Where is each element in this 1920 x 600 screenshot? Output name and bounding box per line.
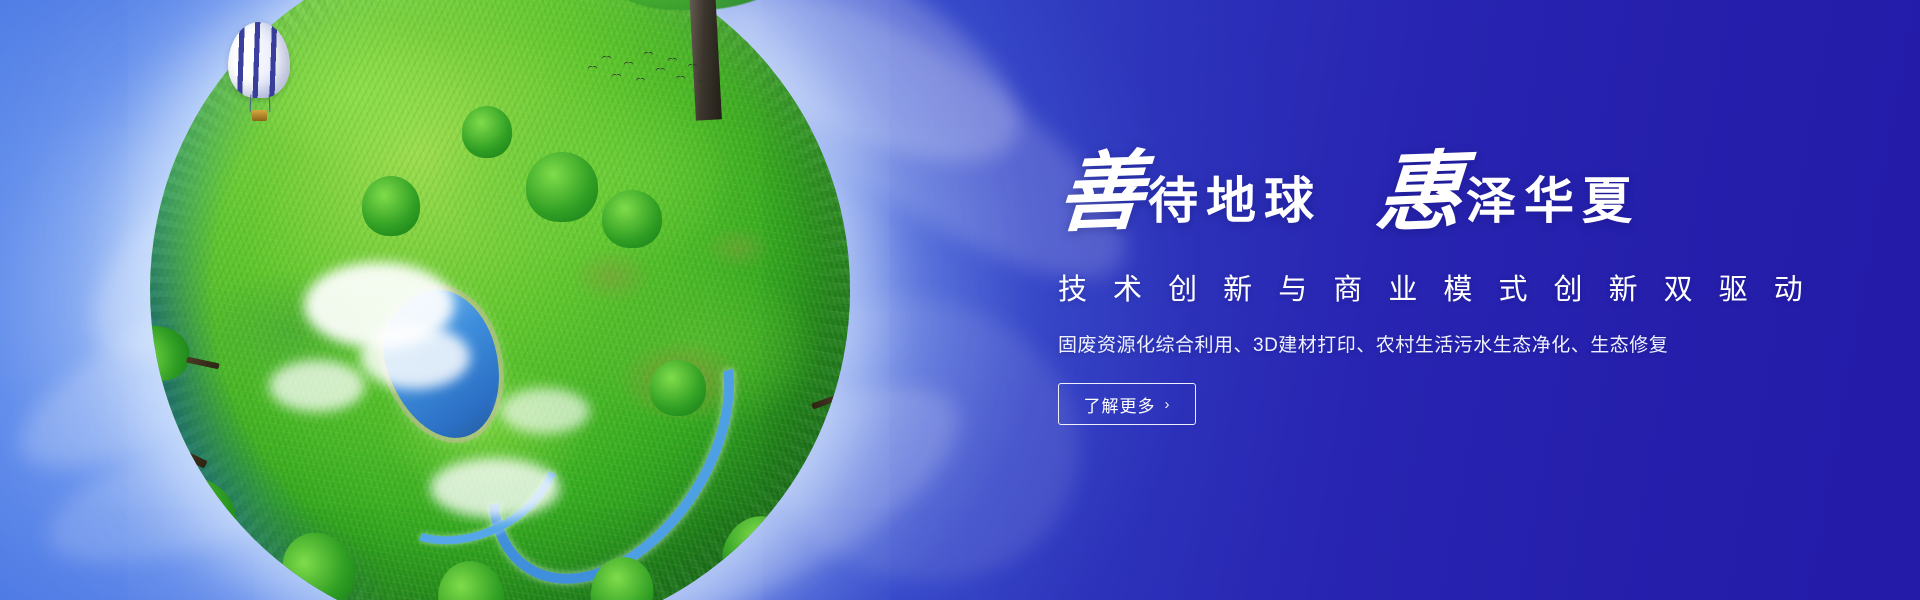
chevron-right-icon: ›	[1165, 397, 1171, 412]
hero-description: 固废资源化综合利用、3D建材打印、农村生活污水生态净化、生态修复	[1058, 330, 1818, 357]
headline-part2-big: 惠	[1373, 149, 1463, 238]
hero-banner: 善 待地球 惠 泽华夏 技 术 创 新 与 商 业 模 式 创 新 双 驱 动 …	[0, 0, 1920, 600]
hero-subtitle: 技 术 创 新 与 商 业 模 式 创 新 双 驱 动	[1058, 266, 1818, 308]
hero-copy: 善 待地球 惠 泽华夏 技 术 创 新 与 商 业 模 式 创 新 双 驱 动 …	[1058, 150, 1818, 425]
hot-air-balloon-icon	[228, 22, 290, 126]
bird-flock-icon	[586, 48, 716, 94]
headline-part1-big: 善	[1055, 149, 1145, 238]
bush-icon	[526, 152, 598, 222]
page-title: 善 待地球 惠 泽华夏	[1058, 150, 1818, 236]
learn-more-label: 了解更多	[1084, 392, 1156, 417]
bush-icon	[462, 106, 512, 158]
headline-part2-small: 泽华夏	[1466, 176, 1640, 236]
bush-icon	[602, 190, 662, 248]
learn-more-button[interactable]: 了解更多 ›	[1058, 383, 1196, 425]
bush-icon	[362, 176, 420, 236]
headline-part1-small: 待地球	[1148, 176, 1322, 236]
bush-icon	[650, 360, 706, 416]
